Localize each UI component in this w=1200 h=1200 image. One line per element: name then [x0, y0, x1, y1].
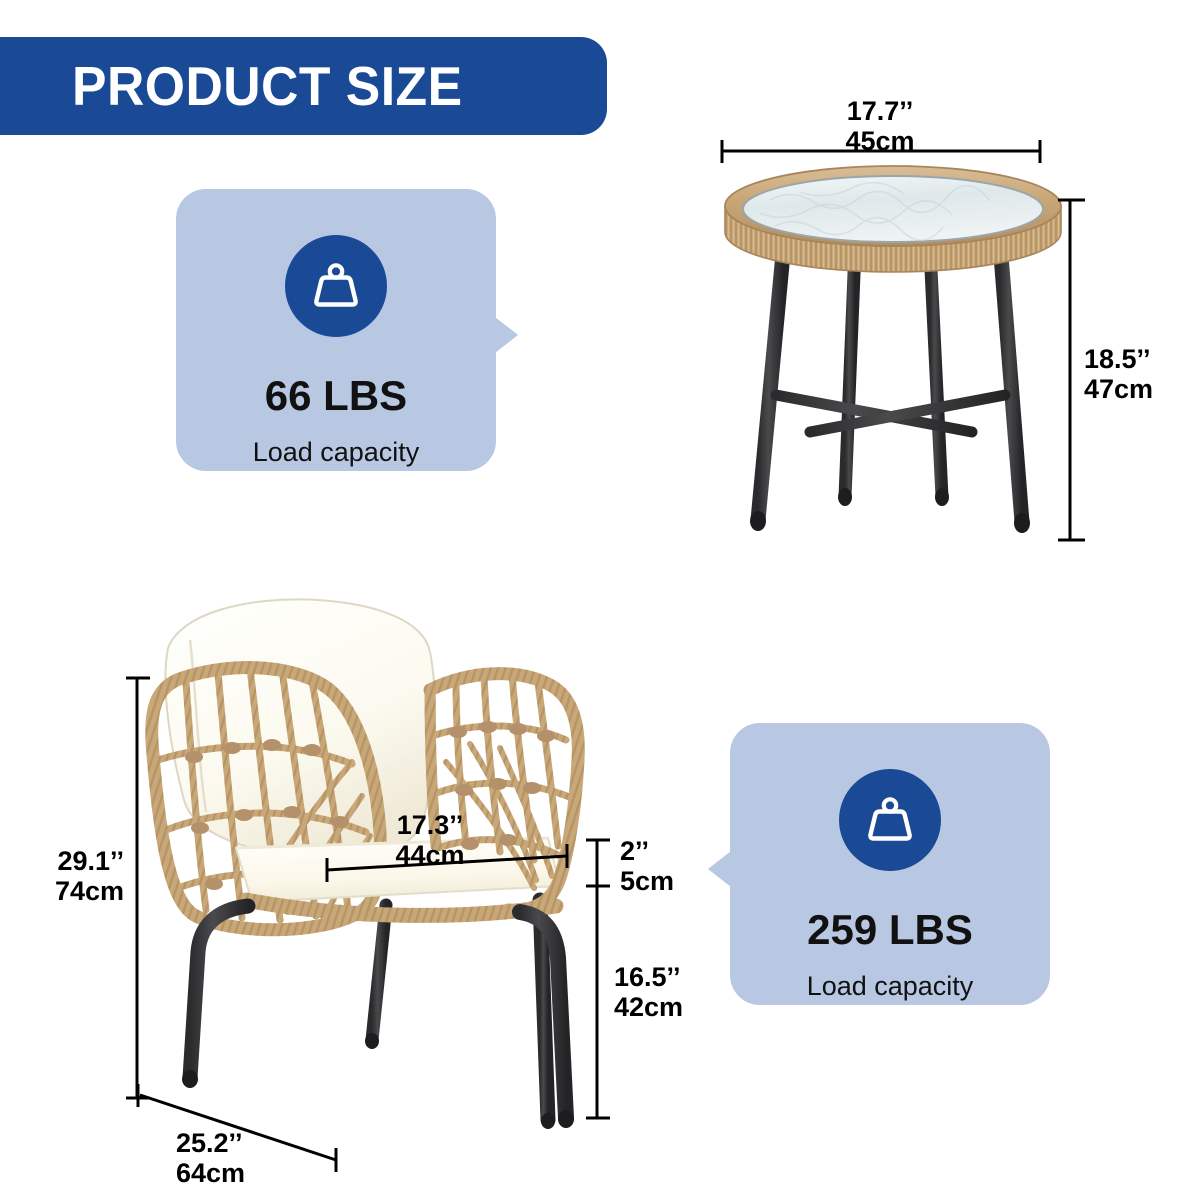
dim-seat-width-inch: 17.3’’ — [360, 810, 500, 840]
side-table-illustration — [725, 166, 1061, 533]
chair-seat-rail — [246, 900, 556, 915]
load-capacity-value: 259 LBS — [807, 909, 973, 951]
infographic-canvas: PRODUCT SIZE — [0, 0, 1200, 1200]
dim-cushion-inch: 2’’ — [620, 836, 674, 866]
dim-table-height-inch: 18.5’’ — [1084, 344, 1153, 374]
dim-chair-depth: 25.2’’ 64cm — [176, 1128, 245, 1188]
bubble-tail-right — [495, 317, 518, 353]
load-capacity-label: Load capacity — [807, 973, 974, 1000]
bubble-tail-left — [708, 851, 731, 887]
weight-icon — [859, 789, 921, 851]
dim-seat-width-cm: 44cm — [360, 840, 500, 870]
callout-table-load-capacity: 66 LBS Load capacity — [176, 189, 496, 471]
chair-rear-legs — [372, 900, 548, 1120]
dim-seat-width: 17.3’’ 44cm — [360, 810, 500, 870]
dim-seat-height: 16.5’’ 42cm — [614, 962, 683, 1022]
load-capacity-value: 66 LBS — [265, 375, 407, 417]
dim-table-width: 17.7’’ 45cm — [800, 96, 960, 156]
table-cross-brace — [776, 395, 1005, 432]
dim-cushion-thickness: 2’’ 5cm — [620, 836, 674, 896]
dim-chair-height-cm: 74cm — [38, 876, 124, 906]
dim-seat-height-cm: 42cm — [614, 992, 683, 1022]
weight-icon-badge — [285, 235, 387, 337]
dim-seat-height-inch: 16.5’’ — [614, 962, 683, 992]
dim-chair-depth-inch: 25.2’’ — [176, 1128, 245, 1158]
dim-chair-height-inch: 29.1’’ — [38, 846, 124, 876]
chair-leg-tips — [182, 1033, 574, 1129]
dim-table-width-inch: 17.7’’ — [800, 96, 960, 126]
callout-chair-load-capacity: 259 LBS Load capacity — [730, 723, 1050, 1005]
dim-cushion-cm: 5cm — [620, 866, 674, 896]
table-leg-tips — [750, 488, 1030, 533]
dim-chair-depth-cm: 64cm — [176, 1158, 245, 1188]
product-illustrations — [0, 0, 1200, 1200]
dim-table-height: 18.5’’ 47cm — [1084, 344, 1153, 404]
weight-icon-badge — [839, 769, 941, 871]
dim-table-height-cm: 47cm — [1084, 374, 1153, 404]
dim-chair-height: 29.1’’ 74cm — [38, 846, 124, 906]
dim-table-width-cm: 45cm — [800, 126, 960, 156]
table-glass-top — [743, 176, 1043, 242]
weight-icon — [305, 255, 367, 317]
table-legs — [758, 243, 1022, 522]
load-capacity-label: Load capacity — [253, 439, 420, 466]
